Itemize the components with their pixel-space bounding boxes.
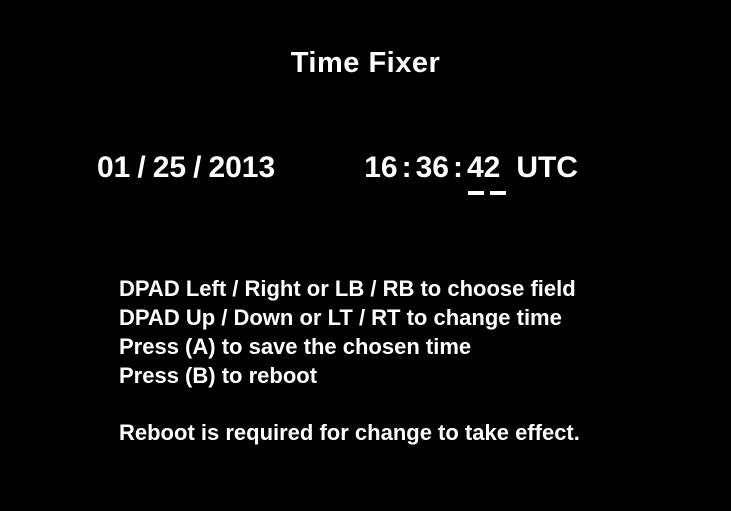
title-bar: Time Fixer: [0, 46, 731, 80]
instruction-line-change-time: DPAD Up / Down or LT / RT to change time: [119, 303, 576, 332]
date-month-field[interactable]: 01: [97, 150, 130, 196]
time-group: 16 : 36 : 42 UTC: [364, 150, 578, 196]
time-hour-field[interactable]: 16: [364, 150, 397, 196]
date-separator-2: /: [186, 150, 208, 196]
time-separator-2: :: [449, 150, 467, 196]
date-year-field[interactable]: 2013: [208, 150, 275, 196]
instructions-block: DPAD Left / Right or LB / RB to choose f…: [119, 274, 576, 390]
instruction-line-reboot: Press (B) to reboot: [119, 361, 576, 390]
date-day-field[interactable]: 25: [153, 150, 186, 196]
timezone-label: UTC: [516, 150, 578, 196]
datetime-row: 01 / 25 / 2013 16 : 36 : 42 UTC: [97, 150, 578, 196]
time-minute-field[interactable]: 36: [416, 150, 449, 196]
time-separator-1: :: [398, 150, 416, 196]
reboot-required-note: Reboot is required for change to take ef…: [119, 418, 580, 447]
page-title: Time Fixer: [291, 46, 441, 80]
instruction-line-choose-field: DPAD Left / Right or LB / RB to choose f…: [119, 274, 576, 303]
time-second-field[interactable]: 42: [467, 150, 500, 196]
time-fixer-screen: Time Fixer 01 / 25 / 2013 16 : 36 : 42 U…: [0, 0, 731, 511]
instruction-line-save: Press (A) to save the chosen time: [119, 332, 576, 361]
date-separator-1: /: [130, 150, 152, 196]
